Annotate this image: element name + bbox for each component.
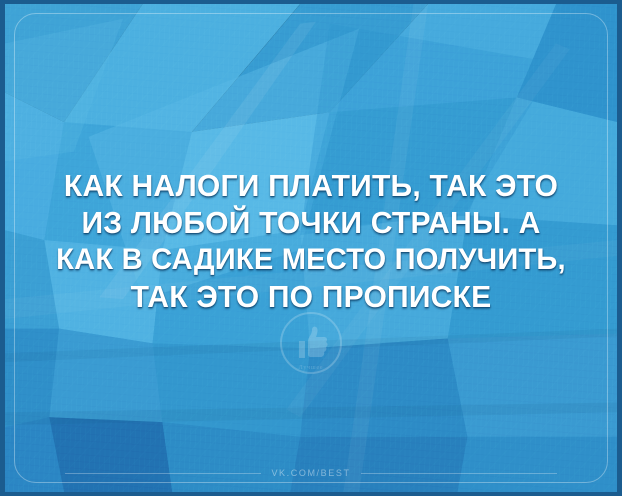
quote-card: Лучшее КАК НАЛОГИ ПЛАТИТЬ, ТАК ЭТО ИЗ ЛЮ… — [0, 0, 622, 496]
quote-line-3: КАК В САДИКЕ МЕСТО ПОЛУЧИТЬ, — [30, 241, 593, 278]
quote-line-1: КАК НАЛОГИ ПЛАТИТЬ, ТАК ЭТО — [30, 167, 593, 204]
quote-line-2: ИЗ ЛЮБОЙ ТОЧКИ СТРАНЫ. А — [30, 204, 593, 241]
quote-line-4: ТАК ЭТО ПО ПРОПИСКЕ — [30, 278, 593, 315]
quote-text-block: КАК НАЛОГИ ПЛАТИТЬ, ТАК ЭТО ИЗ ЛЮБОЙ ТОЧ… — [5, 167, 617, 315]
